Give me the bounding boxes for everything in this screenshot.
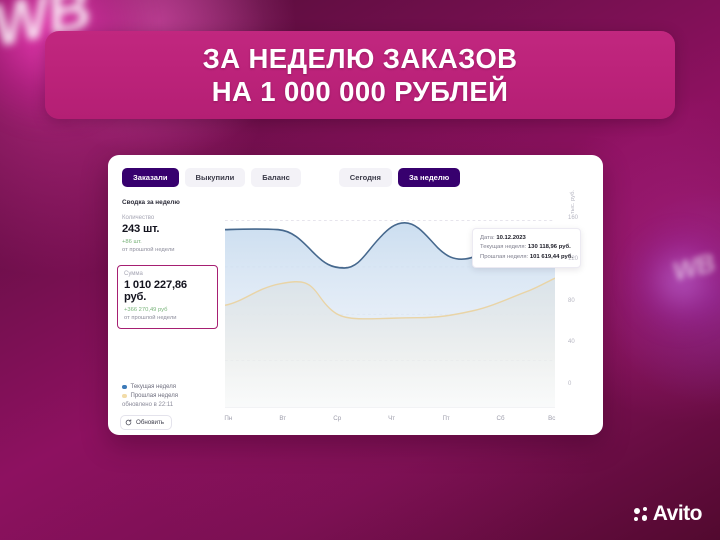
amount-value: 1 010 227,86 руб. bbox=[124, 279, 211, 303]
y-axis: тыс. руб. 160 120 80 40 0 bbox=[555, 198, 589, 408]
legend-dot-previous bbox=[122, 394, 127, 399]
tab-bar: Заказали Выкупили Баланс Сегодня За неде… bbox=[122, 168, 589, 187]
amount-label: Сумма bbox=[124, 271, 211, 277]
x-tick-cht: Чт bbox=[388, 415, 395, 422]
refresh-label: Обновить bbox=[136, 419, 164, 426]
legend-label-current: Текущая неделя bbox=[131, 384, 176, 390]
y-tick-120: 120 bbox=[568, 256, 578, 262]
amount-delta-sub: от прошлой недели bbox=[124, 314, 211, 322]
y-tick-160: 160 bbox=[568, 215, 578, 221]
tooltip-date-value: 10.12.2023 bbox=[496, 235, 525, 241]
refresh-icon bbox=[125, 419, 132, 426]
tooltip-previous-label: Прошлая неделя: bbox=[480, 254, 528, 260]
quantity-metric: Количество 243 шт. +86 шт.от прошлой нед… bbox=[122, 215, 218, 254]
x-tick-pn: Пн bbox=[224, 415, 232, 422]
y-tick-0: 0 bbox=[568, 381, 571, 387]
tooltip-date-label: Дата: bbox=[480, 235, 495, 241]
amount-delta: +366 270,49 рубот прошлой недели bbox=[124, 306, 211, 322]
legend-label-previous: Прошлая неделя bbox=[131, 393, 178, 399]
x-tick-vt: Вт bbox=[279, 415, 286, 422]
legend-item-current: Текущая неделя bbox=[122, 384, 178, 390]
x-tick-pt: Пт bbox=[442, 415, 449, 422]
quantity-delta-sub: от прошлой недели bbox=[122, 246, 218, 254]
chart-area: Дата: 10.12.2023 Текущая неделя: 130 118… bbox=[225, 198, 589, 430]
quantity-label: Количество bbox=[122, 215, 218, 221]
y-axis-unit: тыс. руб. bbox=[570, 190, 576, 214]
amount-metric-highlight: Сумма 1 010 227,86 руб. +366 270,49 рубо… bbox=[117, 265, 218, 329]
avito-logo: Avito bbox=[634, 502, 702, 526]
headline-banner: ЗА НЕДЕЛЮ ЗАКАЗОВ НА 1 000 000 РУБЛЕЙ bbox=[45, 31, 675, 119]
avito-wordmark: Avito bbox=[653, 502, 702, 526]
tab-za-nedelyu[interactable]: За неделю bbox=[398, 168, 460, 187]
y-tick-80: 80 bbox=[568, 298, 575, 304]
tab-balans[interactable]: Баланс bbox=[251, 168, 301, 187]
legend-dot-current bbox=[122, 385, 127, 390]
x-axis: Пн Вт Ср Чт Пт Сб Вс bbox=[225, 410, 555, 430]
summary-title: Сводка за неделю bbox=[122, 199, 218, 206]
x-tick-vs: Вс bbox=[548, 415, 555, 422]
refresh-button[interactable]: Обновить bbox=[120, 415, 172, 430]
card-body: Сводка за неделю Количество 243 шт. +86 … bbox=[122, 198, 589, 430]
dashboard-card: Заказали Выкупили Баланс Сегодня За неде… bbox=[108, 155, 603, 435]
screenshot-stage: WB WB ЗА НЕДЕЛЮ ЗАКАЗОВ НА 1 000 000 РУБ… bbox=[0, 0, 720, 540]
headline-line-2: НА 1 000 000 РУБЛЕЙ bbox=[212, 75, 509, 108]
watermark-glow-right bbox=[626, 228, 720, 333]
updated-timestamp: обновлено в 22:11 bbox=[122, 402, 178, 408]
summary-panel: Сводка за неделю Количество 243 шт. +86 … bbox=[122, 198, 218, 430]
legend-item-previous: Прошлая неделя bbox=[122, 393, 178, 399]
tab-segodnya[interactable]: Сегодня bbox=[339, 168, 392, 187]
quantity-value: 243 шт. bbox=[122, 223, 218, 235]
tab-vykupili[interactable]: Выкупили bbox=[185, 168, 246, 187]
chart-legend: Текущая неделя Прошлая неделя обновлено … bbox=[122, 384, 178, 408]
x-tick-sb: Сб bbox=[497, 415, 505, 422]
x-tick-sr: Ср bbox=[333, 415, 341, 422]
avito-dots-icon bbox=[634, 507, 649, 522]
quantity-delta: +86 шт.от прошлой недели bbox=[122, 238, 218, 254]
headline-line-1: ЗА НЕДЕЛЮ ЗАКАЗОВ bbox=[203, 42, 518, 75]
tab-zakazali[interactable]: Заказали bbox=[122, 168, 179, 187]
y-tick-40: 40 bbox=[568, 339, 575, 345]
tooltip-current-label: Текущая неделя: bbox=[480, 244, 526, 250]
